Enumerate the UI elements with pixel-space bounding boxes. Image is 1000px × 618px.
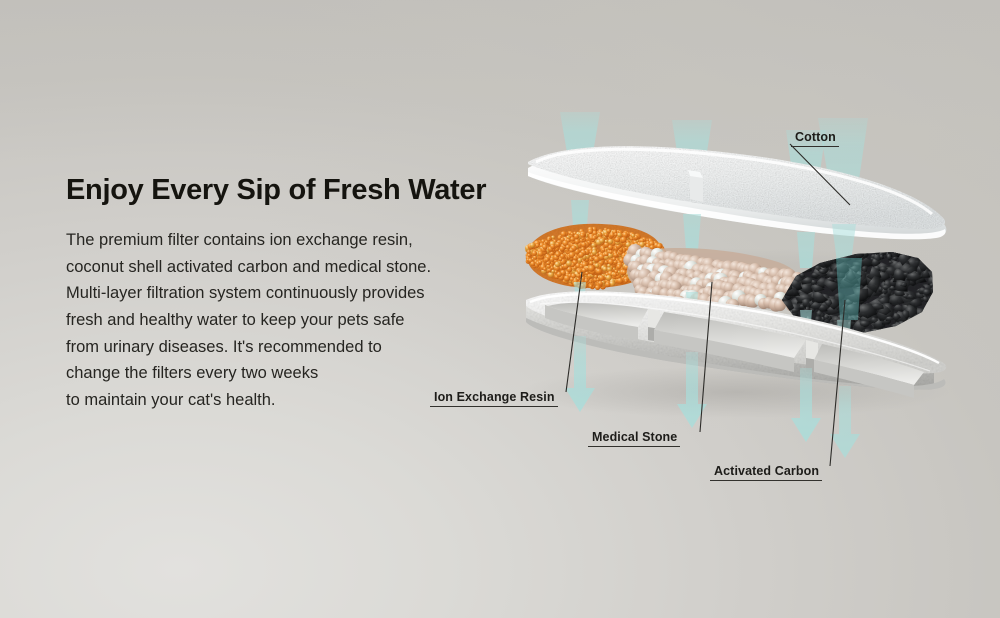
callout-medical-stone: Medical Stone	[588, 430, 680, 447]
callout-stone-rule	[588, 446, 680, 447]
callout-resin-rule	[430, 406, 558, 407]
body-paragraph: The premium filter contains ion exchange…	[66, 227, 486, 414]
callout-cotton: Cotton	[791, 130, 839, 147]
copy-block: Enjoy Every Sip of Fresh Water The premi…	[66, 175, 486, 414]
callout-ion-exchange-resin: Ion Exchange Resin	[430, 390, 558, 407]
page-title: Enjoy Every Sip of Fresh Water	[66, 175, 486, 207]
callout-carbon-label: Activated Carbon	[710, 464, 822, 480]
callout-activated-carbon: Activated Carbon	[710, 464, 822, 481]
callout-carbon-rule	[710, 480, 822, 481]
callout-stone-label: Medical Stone	[588, 430, 680, 446]
callout-cotton-label: Cotton	[791, 130, 839, 146]
callout-resin-label: Ion Exchange Resin	[430, 390, 558, 406]
infographic-canvas: Enjoy Every Sip of Fresh Water The premi…	[0, 0, 1000, 618]
callout-cotton-rule	[791, 146, 839, 147]
